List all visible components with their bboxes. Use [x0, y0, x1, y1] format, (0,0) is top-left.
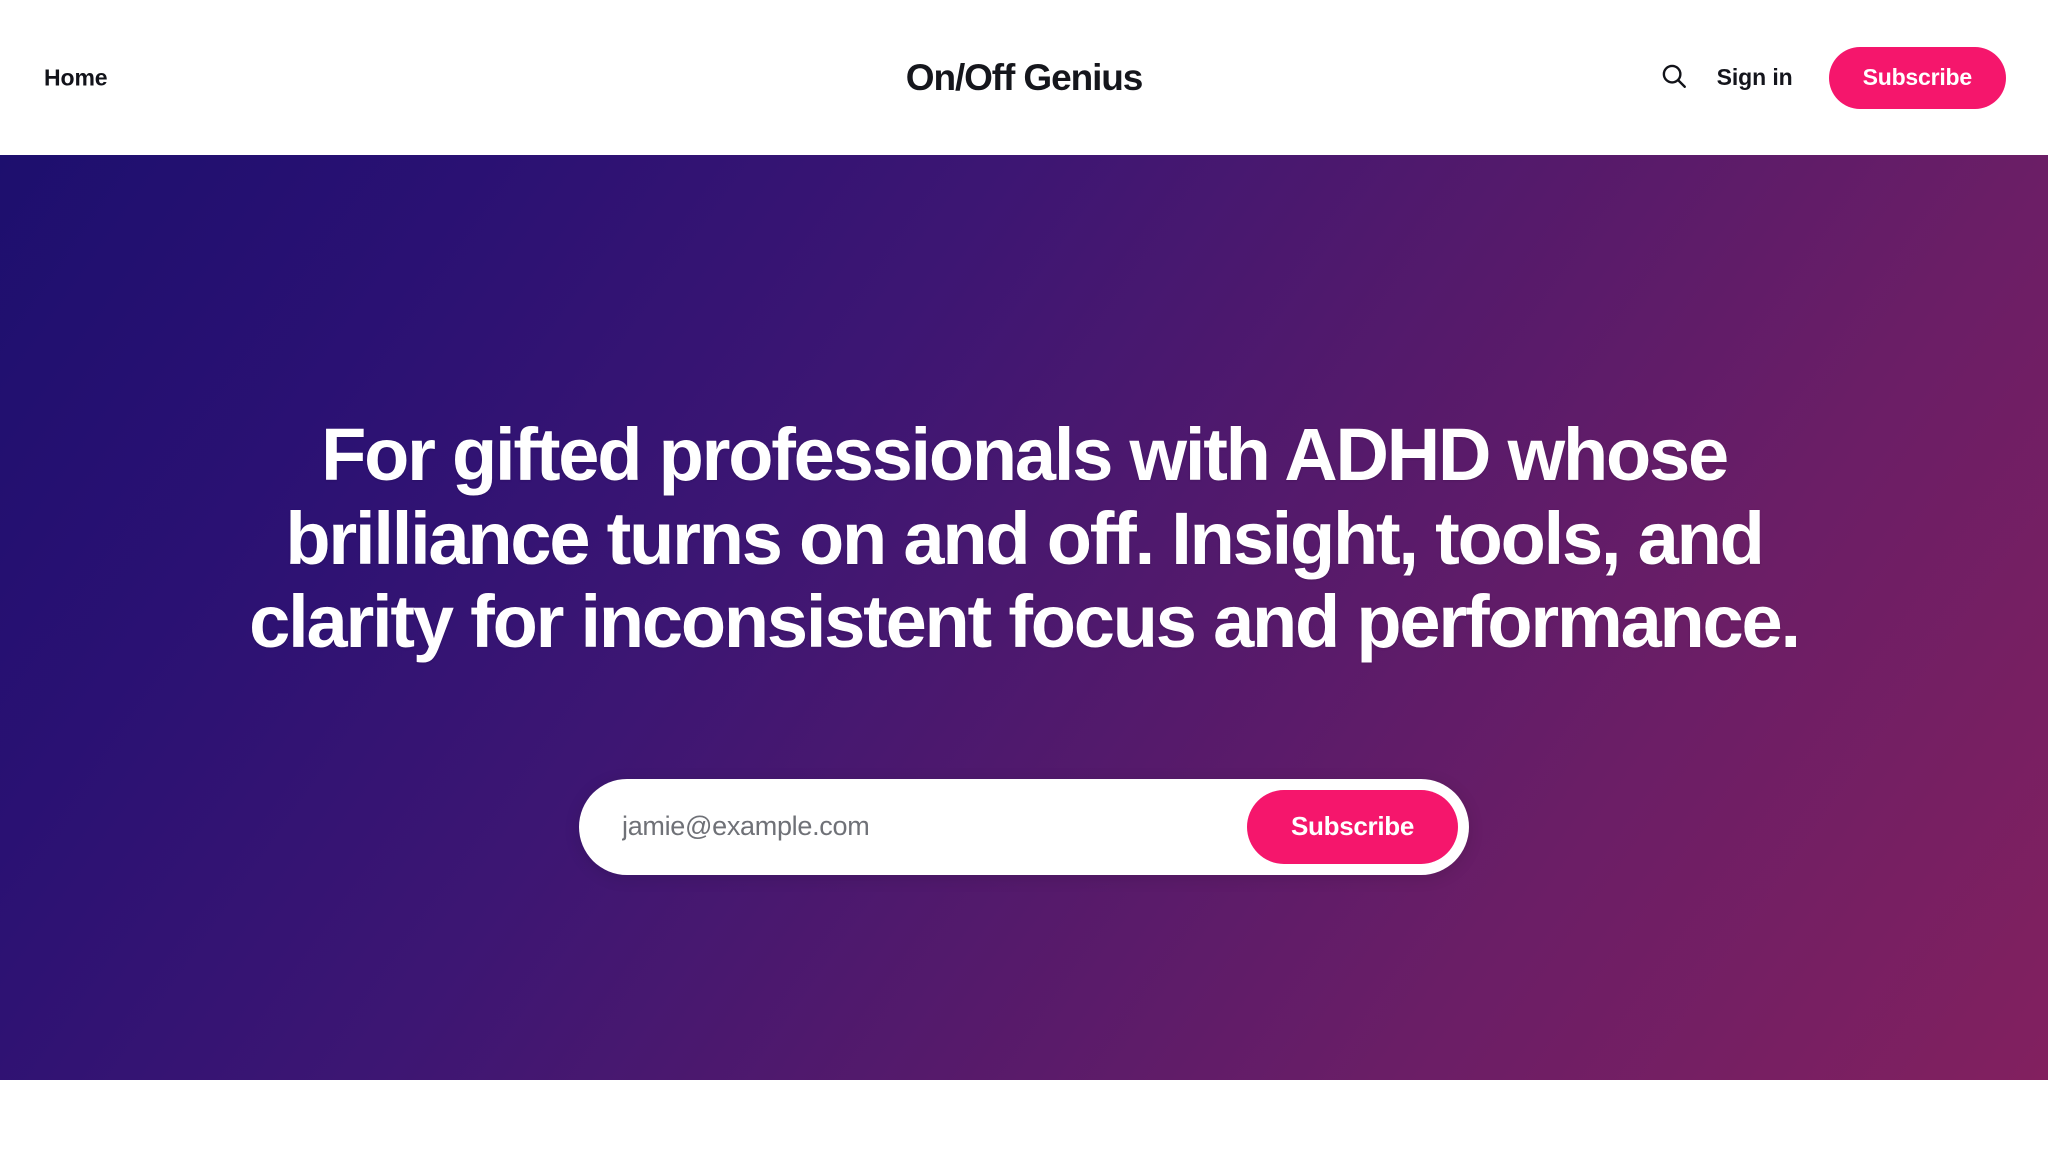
primary-navigation: Home: [44, 64, 108, 91]
hero-subscribe-button[interactable]: Subscribe: [1247, 790, 1458, 864]
search-icon: [1659, 61, 1689, 94]
page-body-below-hero: [0, 1080, 2048, 1152]
site-header: Home On/Off Genius Sign in Subscribe: [0, 0, 2048, 155]
hero-section: For gifted professionals with ADHD whose…: [0, 155, 2048, 1080]
site-title[interactable]: On/Off Genius: [906, 57, 1142, 99]
header-actions: Sign in Subscribe: [1647, 47, 2006, 109]
nav-link-home[interactable]: Home: [44, 64, 108, 91]
search-button[interactable]: [1647, 51, 1701, 105]
header-subscribe-button[interactable]: Subscribe: [1829, 47, 2006, 109]
email-input[interactable]: [579, 790, 1247, 864]
hero-content: For gifted professionals with ADHD whose…: [174, 413, 1874, 875]
sign-in-link[interactable]: Sign in: [1717, 64, 1793, 91]
hero-heading: For gifted professionals with ADHD whose…: [214, 413, 1834, 664]
subscribe-form: Subscribe: [579, 779, 1469, 875]
